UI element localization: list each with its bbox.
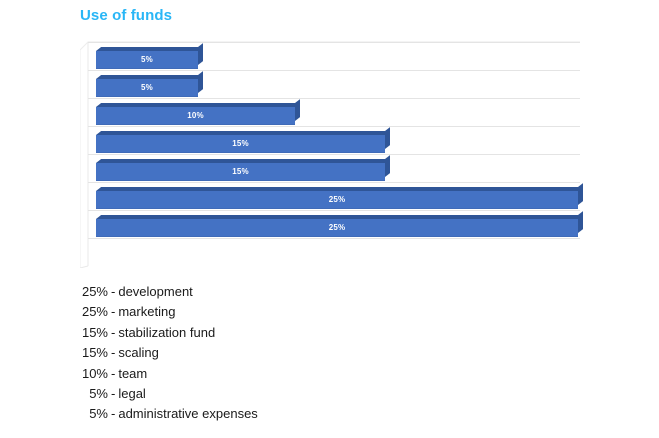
chart-bar-row: 25%	[88, 212, 580, 240]
legend-item-name: scaling	[118, 345, 158, 360]
legend-item: 5%-legal	[80, 384, 480, 404]
chart-bar[interactable]: 25%	[96, 191, 578, 209]
legend-item-name: team	[118, 366, 147, 381]
chart-bar[interactable]: 25%	[96, 219, 578, 237]
chart-bar-value-label: 5%	[96, 79, 198, 97]
chart-bar-side-face	[198, 43, 203, 65]
legend-item-percent: 10%	[80, 364, 108, 384]
chart-plot-area: 5%5%10%15%15%25%25%	[88, 40, 580, 268]
chart-bar-row: 5%	[88, 44, 580, 72]
chart-bar-value-label: 5%	[96, 51, 198, 69]
legend-item-name: marketing	[118, 304, 175, 319]
chart-bar-value-label: 25%	[96, 191, 578, 209]
chart-bar[interactable]: 5%	[96, 79, 198, 97]
legend-item: 25%-marketing	[80, 302, 480, 322]
chart-bar-side-face	[198, 71, 203, 93]
legend-item-percent: 25%	[80, 282, 108, 302]
legend-item-separator: -	[108, 282, 118, 302]
legend-item-name: development	[118, 284, 192, 299]
chart-bar[interactable]: 15%	[96, 163, 385, 181]
chart-bar-value-label: 15%	[96, 163, 385, 181]
use-of-funds-bar-chart: 5%5%10%15%15%25%25%	[80, 40, 580, 268]
legend-item-name: administrative expenses	[118, 406, 257, 421]
chart-bar-row: 25%	[88, 184, 580, 212]
chart-bar-side-face	[295, 99, 300, 121]
chart-bar-side-face	[385, 127, 390, 149]
legend-item-name: stabilization fund	[118, 325, 215, 340]
chart-bar-side-face	[578, 211, 583, 233]
chart-gridline	[88, 42, 580, 43]
legend-item-separator: -	[108, 323, 118, 343]
legend-item: 25%-development	[80, 282, 480, 302]
legend-item-percent: 5%	[80, 404, 108, 424]
legend-item-separator: -	[108, 364, 118, 384]
legend-item-percent: 15%	[80, 323, 108, 343]
legend-item: 10%-team	[80, 364, 480, 384]
legend-item-percent: 25%	[80, 302, 108, 322]
page-title: Use of funds	[80, 7, 172, 24]
chart-bar[interactable]: 15%	[96, 135, 385, 153]
chart-bar-side-face	[385, 155, 390, 177]
chart-bar-row: 10%	[88, 100, 580, 128]
chart-bar-value-label: 25%	[96, 219, 578, 237]
legend-item: 5%-administrative expenses	[80, 404, 480, 424]
legend-item-percent: 15%	[80, 343, 108, 363]
chart-bar-row: 15%	[88, 156, 580, 184]
chart-bar-row: 5%	[88, 72, 580, 100]
legend-item-separator: -	[108, 404, 118, 424]
chart-bar[interactable]: 5%	[96, 51, 198, 69]
legend-item: 15%-stabilization fund	[80, 323, 480, 343]
legend-list: 25%-development25%-marketing15%-stabiliz…	[80, 282, 480, 425]
legend-item-separator: -	[108, 302, 118, 322]
chart-bar-value-label: 10%	[96, 107, 295, 125]
legend-item-separator: -	[108, 384, 118, 404]
legend-item: 15%-scaling	[80, 343, 480, 363]
chart-bar-side-face	[578, 183, 583, 205]
chart-bar-value-label: 15%	[96, 135, 385, 153]
chart-bar-row: 15%	[88, 128, 580, 156]
legend-item-percent: 5%	[80, 384, 108, 404]
legend-item-separator: -	[108, 343, 118, 363]
legend-item-name: legal	[118, 386, 145, 401]
chart-bar[interactable]: 10%	[96, 107, 295, 125]
